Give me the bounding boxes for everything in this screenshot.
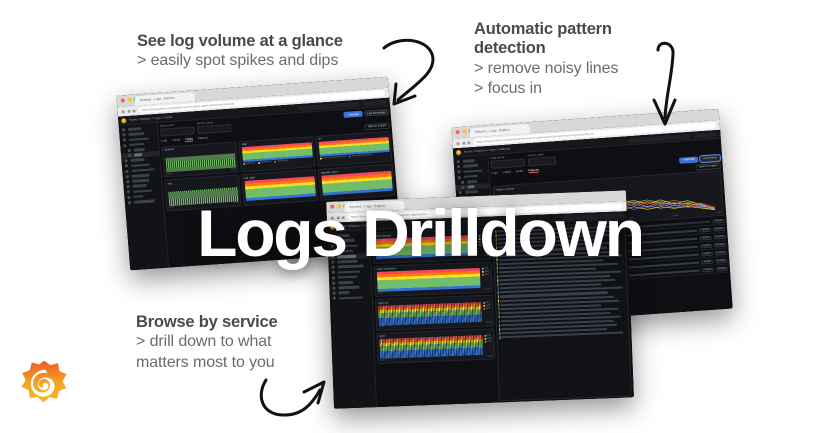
- annotation-line: > easily spot spikes and dips: [137, 51, 343, 71]
- tab-logs[interactable]: Logs: [491, 170, 497, 176]
- tab-fields[interactable]: Fields: [516, 169, 524, 175]
- tab-labels[interactable]: Labels: [503, 169, 512, 175]
- breadcrumb[interactable]: Home > Explore > Logs > Patterns: [464, 147, 510, 154]
- axis-tick: 10:45: [166, 173, 172, 175]
- grafana-logo-icon: [456, 149, 461, 154]
- include-button[interactable]: Include: [702, 267, 714, 272]
- annotation-log-volume: See log volume at a glance > easily spot…: [137, 32, 343, 72]
- legend-item[interactable]: level=info: [243, 163, 255, 166]
- service-control[interactable]: service_name: [527, 152, 556, 166]
- breadcrumb[interactable]: Home > Explore > Logs > Fields: [129, 115, 172, 122]
- annotation-heading: See log volume at a glance: [137, 32, 343, 51]
- datasource-select[interactable]: [160, 126, 195, 136]
- curved-arrow-down-left-icon: [382, 34, 442, 117]
- panel-volume[interactable]: $volume 10:45 11:00: [162, 141, 239, 178]
- service-select[interactable]: [197, 123, 232, 133]
- top-bar-actions[interactable]: [693, 132, 717, 139]
- legend-item[interactable]: error: [483, 307, 491, 309]
- legend[interactable]: info warn error: [483, 301, 492, 321]
- legend-item[interactable]: warn: [483, 304, 491, 306]
- axis-tick: 11:00: [487, 355, 492, 357]
- axis-tick: 11:00: [485, 288, 490, 290]
- axis-tick: 10:45: [378, 326, 384, 328]
- time-range-picker[interactable]: Last 6 hours: [700, 155, 721, 163]
- tab-fields[interactable]: Fields: [185, 136, 193, 142]
- hooked-arrow-down-icon: [644, 38, 688, 135]
- annotation-heading-line1: Automatic pattern: [474, 20, 618, 39]
- add-filter-button[interactable]: + Add filter: [679, 156, 698, 163]
- page-title: Logs Drilldown: [0, 200, 840, 266]
- tab-patterns[interactable]: Patterns: [528, 168, 539, 174]
- exclude-button[interactable]: Exclude: [716, 266, 728, 271]
- detected-level-stacked-area-chart: [321, 171, 392, 196]
- tab-logs[interactable]: Logs: [161, 138, 168, 144]
- add-filter-button[interactable]: + Add filter: [344, 111, 363, 118]
- tab-labels[interactable]: Labels: [172, 137, 181, 143]
- annotation-line: > drill down to what: [136, 332, 278, 352]
- open-in-explore-button[interactable]: Open in Explore: [365, 122, 390, 130]
- browser-nav-buttons[interactable]: [121, 109, 135, 113]
- legend-item[interactable]: msg=compacting blocks: [319, 156, 346, 160]
- open-in-explore-button[interactable]: Open in Explore: [696, 163, 721, 171]
- service-stacked-area-chart: [378, 302, 482, 326]
- panel-caller[interactable]: caller level=info level=warn level=error: [238, 136, 315, 173]
- annotation-line: > focus in: [474, 79, 618, 99]
- grafana-logo: [16, 358, 72, 414]
- legend-item[interactable]: error: [482, 274, 490, 276]
- panel-err[interactable]: err msg=compacting blocks msg=uploading …: [315, 131, 392, 168]
- browser-nav-buttons[interactable]: [456, 141, 470, 145]
- datasource-control[interactable]: Data source: [490, 155, 525, 169]
- tab-patterns[interactable]: Patterns: [198, 135, 209, 141]
- service-control[interactable]: service_name: [197, 120, 232, 134]
- legend-item[interactable]: level=error: [274, 160, 288, 163]
- datasource-control[interactable]: Data source: [160, 122, 195, 136]
- annotation-browse-service: Browse by service > drill down to what m…: [136, 313, 278, 373]
- axis-tick: 10:45: [380, 360, 386, 362]
- service-select[interactable]: [528, 156, 556, 166]
- annotation-heading: Browse by service: [136, 313, 278, 332]
- curved-arrow-up-right-icon: [246, 374, 330, 429]
- datasource-select[interactable]: [491, 158, 525, 168]
- panel-service[interactable]: nginx-ssl info warn error 10:45: [375, 295, 494, 331]
- axis-tick: 10:45: [377, 292, 383, 294]
- grafana-logo-icon: [121, 118, 126, 123]
- legend[interactable]: info warn error: [482, 268, 491, 288]
- legend-item[interactable]: msg=uploading block: [349, 154, 373, 158]
- sidebar-item[interactable]: [330, 294, 372, 301]
- axis-tick: 11:00: [231, 168, 236, 170]
- service-stacked-area-chart: [376, 268, 480, 292]
- annotation-line: matters most to you: [136, 353, 278, 373]
- legend-item[interactable]: info: [483, 301, 491, 303]
- annotation-heading-line2: detection: [474, 39, 618, 58]
- legend[interactable]: info warn error: [484, 335, 493, 355]
- axis-tick: 11:00: [486, 322, 491, 324]
- legend-item[interactable]: level=warn: [258, 161, 272, 164]
- legend-item[interactable]: error: [484, 341, 492, 343]
- annotation-line: > remove noisy lines: [474, 59, 618, 79]
- promo-banner: Grafana - Logs - Explore https://play.gr…: [0, 0, 840, 433]
- panel-service[interactable]: nginx info warn error 10:45: [376, 328, 495, 364]
- annotation-pattern-detection: Automatic pattern detection > remove noi…: [474, 20, 618, 100]
